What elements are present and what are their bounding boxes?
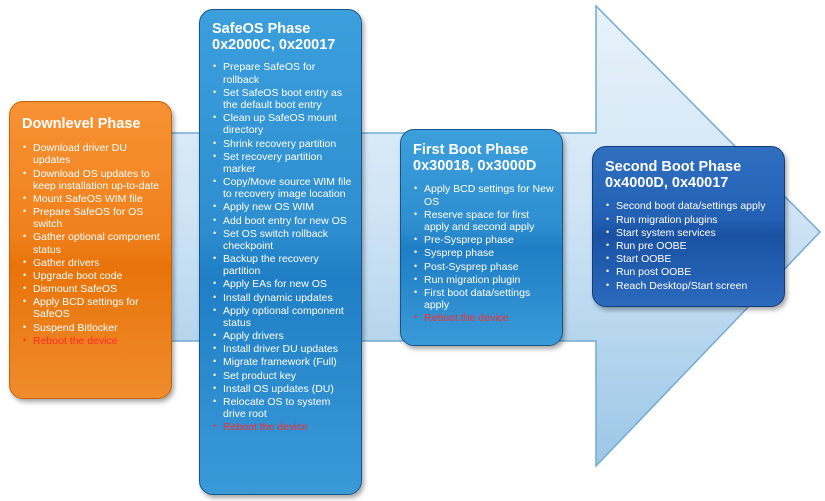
- phase-codes-firstboot: 0x30018, 0x3000D: [413, 158, 536, 174]
- phase-title-secondboot: Second Boot Phase0x4000D, 0x40017: [605, 159, 784, 191]
- list-item-reboot: Reboot the device: [22, 335, 163, 347]
- list-item: Install driver DU updates: [212, 343, 353, 355]
- list-item: Pre-Sysprep phase: [413, 234, 554, 246]
- list-item: First boot data/settings apply: [413, 287, 554, 311]
- list-item: Prepare SafeOS for OS switch: [22, 206, 163, 230]
- list-item-reboot: Reboot the device: [413, 312, 554, 324]
- list-item: Backup the recovery partition: [212, 253, 353, 277]
- list-item: Install OS updates (DU): [212, 383, 353, 395]
- list-item: Second boot data/settings apply: [605, 200, 776, 212]
- phase-item-list-safeos: Prepare SafeOS for rollback Set SafeOS b…: [212, 61, 353, 433]
- phase-title-text-safeos: SafeOS Phase: [212, 21, 310, 37]
- phase-card-safeos[interactable]: SafeOS Phase0x2000C, 0x20017 Prepare Saf…: [199, 9, 362, 495]
- list-item: Run migration plugins: [605, 214, 776, 226]
- list-item: Apply BCD settings for New OS: [413, 183, 554, 207]
- list-item: Suspend Bitlocker: [22, 322, 163, 334]
- phase-card-secondboot[interactable]: Second Boot Phase0x4000D, 0x40017 Second…: [592, 146, 785, 307]
- list-item: Run migration plugin: [413, 274, 554, 286]
- phase-codes-secondboot: 0x4000D, 0x40017: [605, 175, 728, 191]
- list-item: Apply BCD settings for SafeOS: [22, 296, 163, 320]
- list-item: Shrink recovery partition: [212, 138, 353, 150]
- list-item: Install dynamic updates: [212, 292, 353, 304]
- list-item: Apply drivers: [212, 330, 353, 342]
- list-item: Gather optional component status: [22, 231, 163, 255]
- list-item: Prepare SafeOS for rollback: [212, 61, 353, 85]
- list-item: Migrate framework (Full): [212, 356, 353, 368]
- list-item: Relocate OS to system drive root: [212, 396, 353, 420]
- list-item: Download driver DU updates: [22, 142, 163, 166]
- phase-title-text-firstboot: First Boot Phase: [413, 142, 528, 158]
- list-item: Apply new OS WIM: [212, 201, 353, 213]
- phase-item-list-firstboot: Apply BCD settings for New OS Reserve sp…: [413, 183, 554, 324]
- phase-title-safeos: SafeOS Phase0x2000C, 0x20017: [212, 21, 361, 53]
- list-item: Download OS updates to keep installation…: [22, 168, 163, 192]
- list-item: Run post OOBE: [605, 266, 776, 278]
- list-item: Add boot entry for new OS: [212, 215, 353, 227]
- list-item: Reserve space for first apply and second…: [413, 209, 554, 233]
- list-item: Run pre OOBE: [605, 240, 776, 252]
- list-item: Start OOBE: [605, 253, 776, 265]
- list-item: Set recovery partition marker: [212, 151, 353, 175]
- list-item: Gather drivers: [22, 257, 163, 269]
- list-item: Dismount SafeOS: [22, 283, 163, 295]
- phase-card-firstboot[interactable]: First Boot Phase0x30018, 0x3000D Apply B…: [400, 129, 563, 346]
- list-item: Start system services: [605, 227, 776, 239]
- list-item: Upgrade boot code: [22, 270, 163, 282]
- diagram-canvas: Downlevel Phase Download driver DU updat…: [0, 0, 825, 501]
- phase-title-text-secondboot: Second Boot Phase: [605, 159, 741, 175]
- phase-card-downlevel[interactable]: Downlevel Phase Download driver DU updat…: [9, 101, 172, 399]
- list-item: Apply optional component status: [212, 305, 353, 329]
- list-item: Copy/Move source WIM file to recovery im…: [212, 176, 353, 200]
- list-item: Set SafeOS boot entry as the default boo…: [212, 87, 353, 111]
- list-item-reboot: Reboot the device: [212, 421, 353, 433]
- phase-title-firstboot: First Boot Phase0x30018, 0x3000D: [413, 142, 562, 174]
- list-item: Set OS switch rollback checkpoint: [212, 228, 353, 252]
- list-item: Apply EAs for new OS: [212, 278, 353, 290]
- list-item: Reach Desktop/Start screen: [605, 280, 776, 292]
- phase-title-downlevel: Downlevel Phase: [22, 116, 171, 132]
- list-item: Sysprep phase: [413, 247, 554, 259]
- list-item: Set product key: [212, 370, 353, 382]
- list-item: Mount SafeOS WIM file: [22, 193, 163, 205]
- list-item: Post-Sysprep phase: [413, 261, 554, 273]
- list-item: Clean up SafeOS mount directory: [212, 112, 353, 136]
- phase-item-list-downlevel: Download driver DU updates Download OS u…: [22, 142, 163, 347]
- phase-codes-safeos: 0x2000C, 0x20017: [212, 37, 335, 53]
- phase-item-list-secondboot: Second boot data/settings apply Run migr…: [605, 200, 776, 291]
